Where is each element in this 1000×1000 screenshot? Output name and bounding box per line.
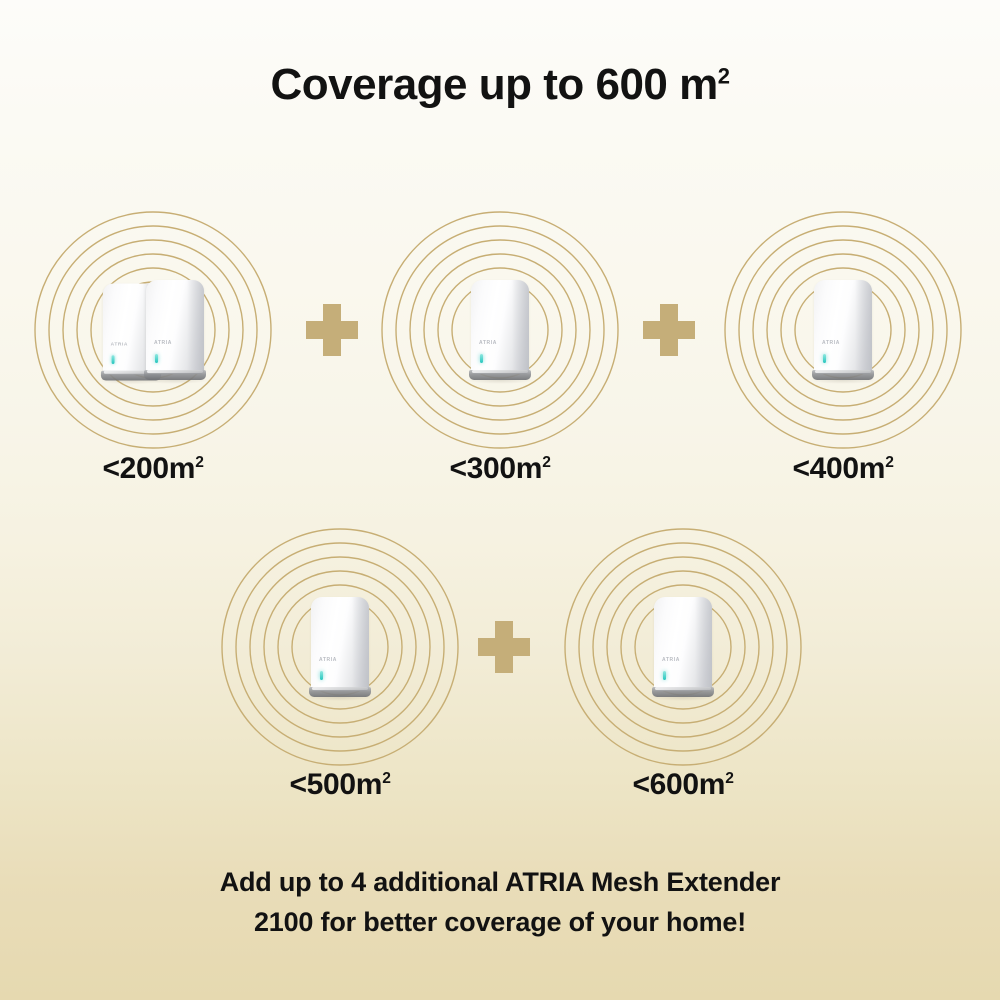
page-title-text: Coverage up to 600 m — [270, 60, 717, 109]
router-status-led-icon — [320, 671, 323, 680]
coverage-label-superscript: 2 — [195, 454, 203, 471]
coverage-label-300: <300m2 — [370, 452, 630, 486]
router-device: ATRIA — [814, 280, 872, 380]
device-cluster: ATRIA — [718, 205, 968, 455]
coverage-group-300: ATRIA — [375, 205, 625, 455]
coverage-label-text: <500m — [289, 768, 382, 801]
router-status-led-icon — [823, 354, 826, 363]
router-base-highlight — [147, 370, 203, 373]
coverage-label-text: <600m — [632, 768, 725, 801]
device-cluster: ATRIA — [215, 522, 465, 772]
coverage-label-500: <500m2 — [210, 768, 470, 802]
router-status-led-icon — [112, 355, 115, 364]
router-logo: ATRIA — [154, 340, 172, 346]
footer-line-2: 2100 for better coverage of your home! — [0, 902, 1000, 942]
router-base-highlight — [815, 370, 871, 373]
router-base-highlight — [312, 687, 368, 690]
coverage-label-200: <200m2 — [23, 452, 283, 486]
router-logo: ATRIA — [319, 657, 337, 663]
coverage-label-text: <300m — [449, 452, 542, 485]
plus-bar-vertical — [660, 304, 678, 356]
coverage-group-600: ATRIA — [558, 522, 808, 772]
plus-separator-3-icon — [478, 621, 530, 673]
page-title-superscript: 2 — [718, 63, 730, 88]
device-cluster: ATRIA — [558, 522, 808, 772]
router-logo: ATRIA — [111, 342, 128, 348]
router-side-shading — [352, 597, 369, 691]
plus-bar-vertical — [495, 621, 513, 673]
router-status-led-icon — [155, 354, 158, 363]
router-side-shading — [695, 597, 712, 691]
plus-separator-2-icon — [643, 304, 695, 356]
router-status-led-icon — [663, 671, 666, 680]
coverage-infographic: Coverage up to 600 m2 ATRIA — [0, 0, 1000, 1000]
router-status-led-icon — [480, 354, 483, 363]
device-cluster: ATRIA — [375, 205, 625, 455]
coverage-group-200: ATRIA ATRIA — [28, 205, 278, 455]
router-logo: ATRIA — [822, 340, 840, 346]
router-device: ATRIA — [471, 280, 529, 380]
router-logo: ATRIA — [479, 340, 497, 346]
coverage-group-500: ATRIA — [215, 522, 465, 772]
coverage-label-superscript: 2 — [885, 454, 893, 471]
footer-note: Add up to 4 additional ATRIA Mesh Extend… — [0, 862, 1000, 942]
coverage-label-text: <400m — [792, 452, 885, 485]
router-base-highlight — [472, 370, 528, 373]
router-side-shading — [187, 280, 204, 374]
router-device: ATRIA — [654, 597, 712, 697]
coverage-label-text: <200m — [102, 452, 195, 485]
footer-line-1: Add up to 4 additional ATRIA Mesh Extend… — [0, 862, 1000, 902]
plus-bar-vertical — [323, 304, 341, 356]
router-device: ATRIA — [311, 597, 369, 697]
router-base-highlight — [655, 687, 711, 690]
plus-separator-1-icon — [306, 304, 358, 356]
router-logo: ATRIA — [662, 657, 680, 663]
coverage-label-superscript: 2 — [542, 454, 550, 471]
router-side-shading — [855, 280, 872, 374]
coverage-label-superscript: 2 — [725, 770, 733, 787]
router-side-shading — [512, 280, 529, 374]
page-title: Coverage up to 600 m2 — [0, 60, 1000, 110]
device-cluster: ATRIA ATRIA — [28, 205, 278, 455]
coverage-label-600: <600m2 — [553, 768, 813, 802]
router-device: ATRIA — [146, 280, 204, 380]
coverage-group-400: ATRIA — [718, 205, 968, 455]
coverage-label-superscript: 2 — [382, 770, 390, 787]
coverage-label-400: <400m2 — [713, 452, 973, 486]
